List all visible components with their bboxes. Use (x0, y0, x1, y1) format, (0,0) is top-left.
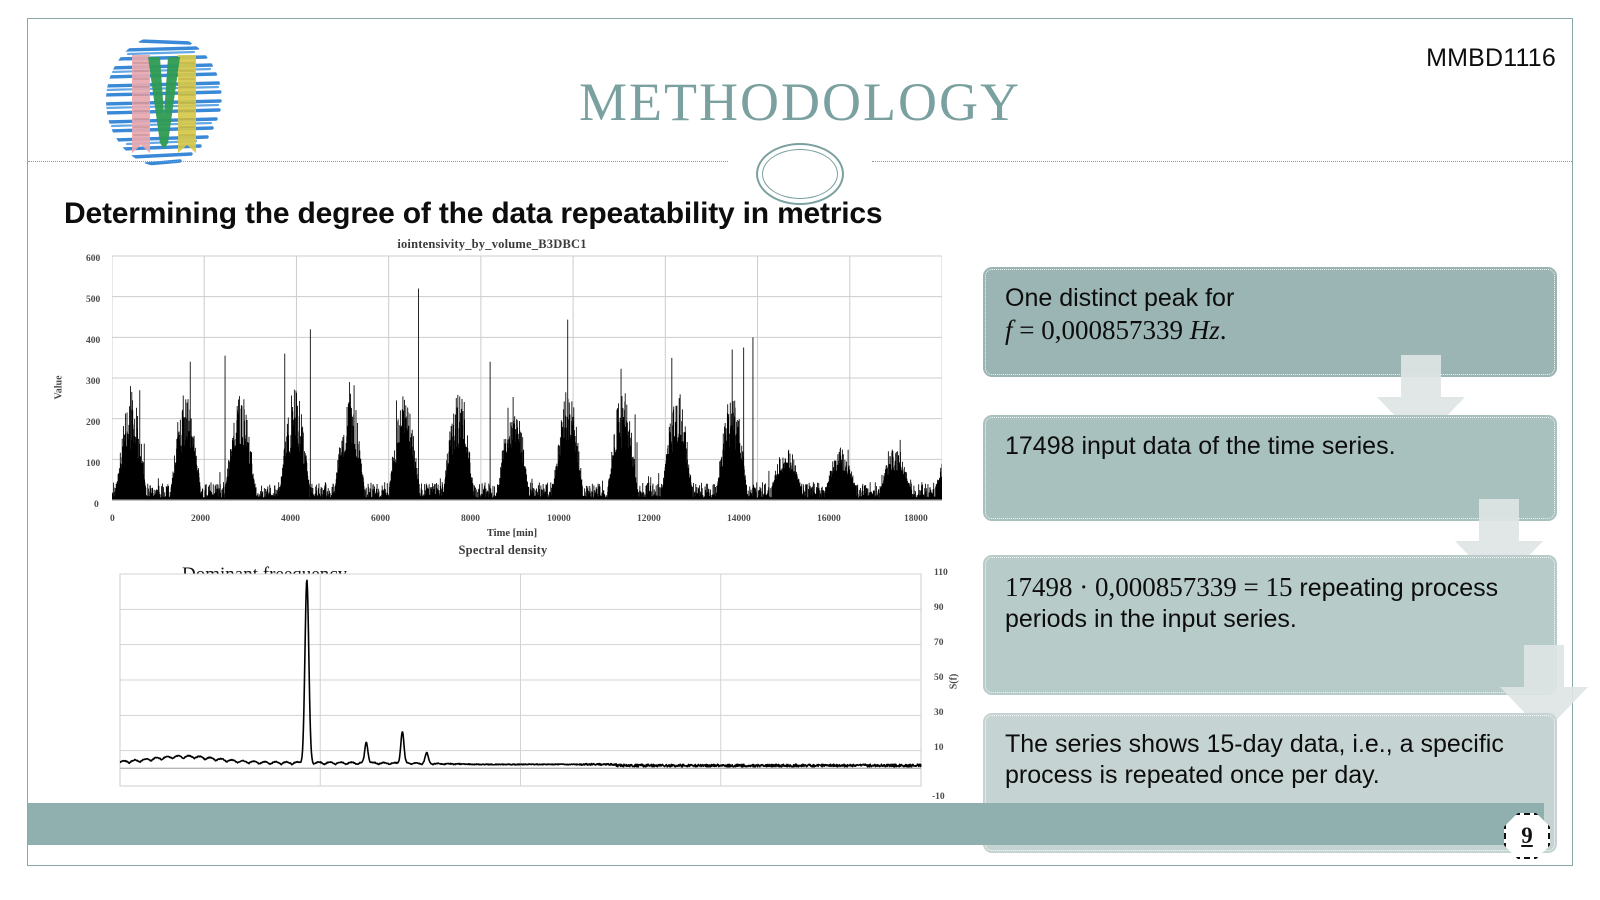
header-divider (28, 145, 1572, 205)
box-input-count-text: 17498 input data of the time series. (1005, 432, 1396, 460)
spectral-y-axis-label: S(f) (949, 665, 960, 699)
timeseries-xtick: 8000 (461, 514, 480, 524)
box-periods[interactable]: 17498 · 0,000857339 = 15 repeating proce… (983, 555, 1557, 695)
timeseries-xtick: 2000 (191, 514, 210, 524)
spectral-ytick: -10 (932, 792, 945, 802)
spectral-ytick: 10 (934, 743, 944, 753)
section-heading: Determining the degree of the data repea… (64, 197, 882, 231)
spectral-ytick: 50 (934, 673, 944, 683)
timeseries-chart-title: iointensivity_by_volume_B3DBC1 (42, 237, 942, 252)
box-peak-line1: One distinct peak for (1005, 284, 1234, 312)
timeseries-ytick: 400 (86, 336, 100, 346)
page-title: METHODOLOGY (28, 75, 1572, 129)
divider-circle-ornament (756, 143, 844, 205)
divider-line-left (28, 161, 728, 162)
spectral-ytick: 30 (934, 708, 944, 718)
slide-frame: MMBD1116 METHODOLOGY Determining the deg… (27, 18, 1573, 866)
spectral-plot (112, 572, 927, 804)
timeseries-ytick: 500 (86, 295, 100, 305)
spectral-chart: Spectral density Dominant freequency 110… (42, 543, 942, 823)
timeseries-ytick: 0 (94, 500, 99, 510)
divider-line-right (872, 161, 1572, 162)
spectral-ytick: 70 (934, 638, 944, 648)
box-peak-symbol-f: f (1005, 315, 1013, 345)
spectral-ytick: 110 (934, 568, 948, 578)
spectral-chart-title: Spectral density (64, 543, 942, 558)
box-conclusion-text: The series shows 15-day data, i.e., a sp… (1005, 730, 1504, 789)
charts-container: iointensivity_by_volume_B3DBC1 Value 600… (42, 237, 942, 817)
page-number-badge: 9 (1504, 813, 1550, 859)
timeseries-xtick: 0 (110, 514, 115, 524)
conclusion-boxes: One distinct peak for f = 0,000857339 Hz… (983, 267, 1561, 819)
timeseries-ytick: 600 (86, 254, 100, 264)
timeseries-ytick: 300 (86, 377, 100, 387)
timeseries-xtick: 14000 (727, 514, 751, 524)
timeseries-y-axis-label: Value (54, 368, 65, 408)
box-periods-equation: 17498 · 0,000857339 = 15 (1005, 572, 1292, 602)
timeseries-xtick: 18000 (904, 514, 928, 524)
spectral-ytick: 90 (934, 603, 944, 613)
timeseries-xtick: 12000 (637, 514, 661, 524)
page-number-label: 9 (1504, 813, 1550, 859)
timeseries-xtick: 16000 (817, 514, 841, 524)
timeseries-ytick: 100 (86, 459, 100, 469)
footer-bar (28, 803, 1544, 845)
timeseries-plot (112, 252, 942, 514)
deck-code-label: MMBD1116 (1426, 44, 1556, 73)
timeseries-chart: iointensivity_by_volume_B3DBC1 Value 600… (42, 237, 942, 537)
timeseries-xtick: 10000 (547, 514, 571, 524)
box-peak-unit: Hz (1190, 315, 1220, 345)
timeseries-ytick: 200 (86, 418, 100, 428)
box-peak-equation: = 0,000857339 (1013, 315, 1190, 345)
box-peak[interactable]: One distinct peak for f = 0,000857339 Hz… (983, 267, 1557, 377)
timeseries-xtick: 6000 (371, 514, 390, 524)
timeseries-xtick: 4000 (281, 514, 300, 524)
box-peak-period: . (1220, 315, 1227, 345)
